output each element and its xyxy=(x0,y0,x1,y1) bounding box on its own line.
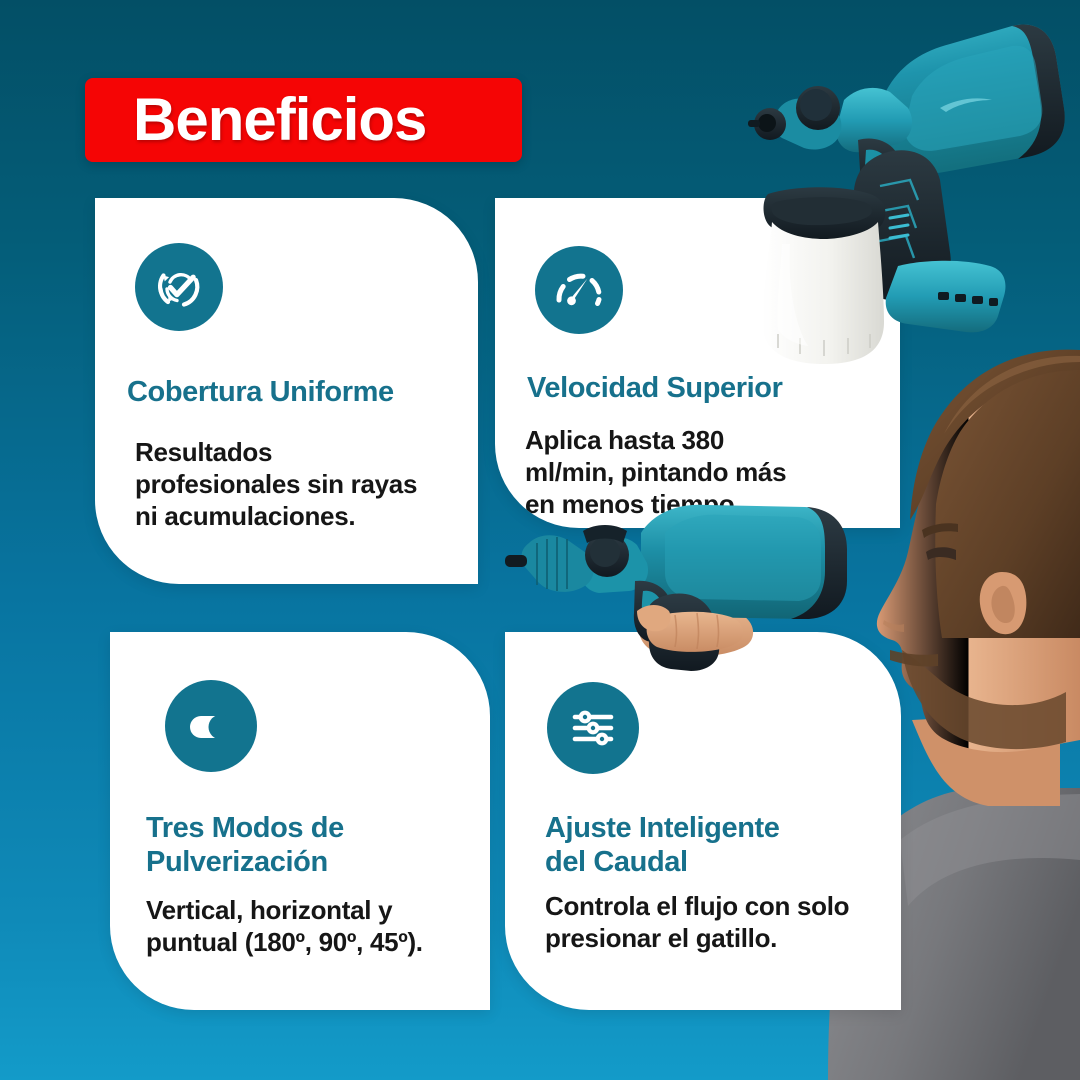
card-title: Ajuste Inteligente del Caudal xyxy=(545,812,895,879)
card-body: Vertical, horizontal y puntual (180º, 90… xyxy=(146,894,490,958)
card-body: Controla el flujo con solo presionar el … xyxy=(545,890,895,954)
toggle-switch-icon xyxy=(165,680,257,772)
card-title: Tres Modos de Pulverización xyxy=(146,812,486,879)
benefit-card-velocidad-superior: Velocidad Superior Aplica hasta 380 ml/m… xyxy=(495,198,900,528)
title-banner: Beneficios xyxy=(85,78,522,162)
card-title: Cobertura Uniforme xyxy=(127,376,477,410)
speedometer-icon xyxy=(535,246,623,334)
benefit-card-tres-modos-de-pulverizacion: Tres Modos de Pulverización Vertical, ho… xyxy=(110,632,490,1010)
card-body: Aplica hasta 380 ml/min, pintando más en… xyxy=(525,424,875,521)
sliders-icon xyxy=(547,682,639,774)
benefit-card-cobertura-uniforme: Cobertura Uniforme Resultados profesiona… xyxy=(95,198,478,584)
infographic-canvas: Beneficios xyxy=(0,0,1080,1080)
card-body: Resultados profesionales sin rayas ni ac… xyxy=(135,436,465,533)
page-title: Beneficios xyxy=(133,90,426,150)
check-refresh-icon xyxy=(135,243,223,331)
benefit-card-ajuste-inteligente-del-caudal: Ajuste Inteligente del Caudal Controla e… xyxy=(505,632,901,1010)
card-title: Velocidad Superior xyxy=(527,372,897,406)
